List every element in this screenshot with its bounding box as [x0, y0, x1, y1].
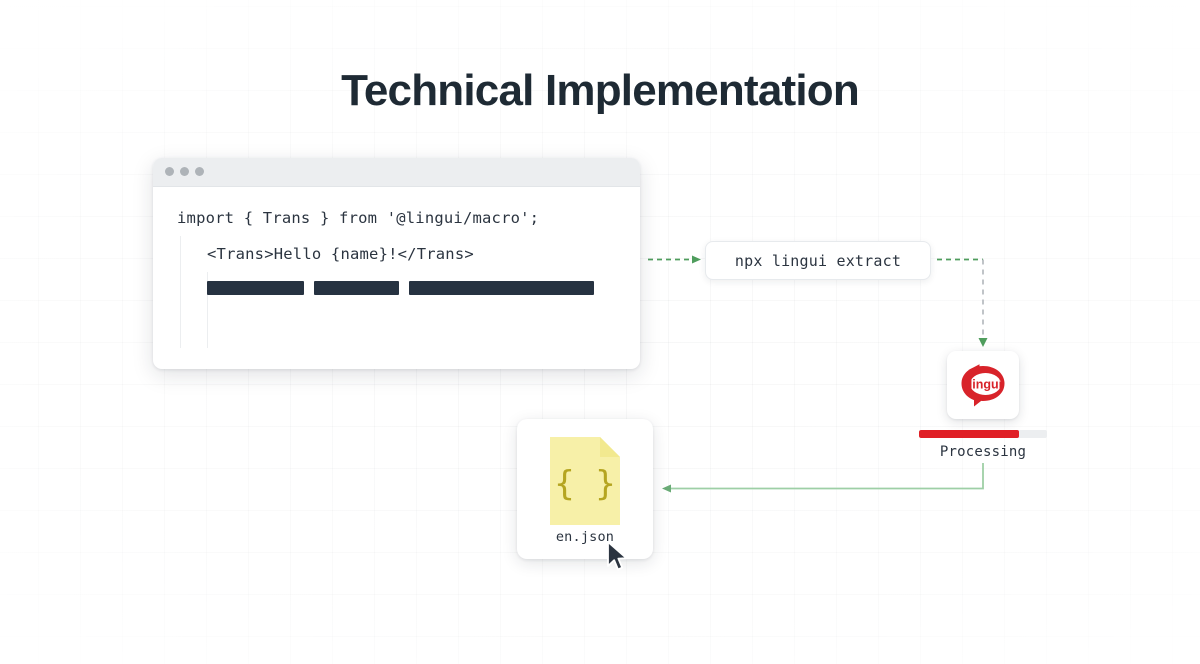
processing-progress-track [919, 430, 1047, 438]
lingui-logo-card[interactable]: lingui [947, 351, 1019, 419]
code-to-command-arrow [648, 256, 701, 264]
cli-command-text: npx lingui extract [735, 252, 901, 270]
lingui-logo-icon: lingui [957, 361, 1009, 409]
code-window[interactable]: import { Trans } from '@lingui/macro'; <… [153, 158, 640, 369]
window-close-dot-icon[interactable] [165, 167, 174, 176]
mouse-pointer-icon [606, 541, 630, 573]
page-title: Technical Implementation [0, 66, 1200, 116]
json-file-icon: { } [550, 437, 620, 525]
code-editor-body[interactable]: import { Trans } from '@lingui/macro'; <… [153, 186, 640, 369]
processing-status-label: Processing [893, 444, 1073, 460]
output-file-name: en.json [517, 529, 653, 545]
window-maximize-dot-icon[interactable] [195, 167, 204, 176]
slide-canvas: Technical Implementation import [0, 0, 1200, 664]
code-window-titlebar [153, 158, 640, 187]
json-braces-glyph: { } [554, 464, 615, 504]
window-minimize-dot-icon[interactable] [180, 167, 189, 176]
output-file-card[interactable]: { } en.json [517, 419, 653, 559]
lingui-wordmark: lingui [969, 378, 1002, 392]
redacted-bar-2 [314, 281, 399, 295]
cli-command-box[interactable]: npx lingui extract [705, 241, 931, 280]
processing-progress-fill [919, 430, 1019, 438]
code-line-import: import { Trans } from '@lingui/macro'; [177, 209, 539, 227]
command-to-lingui-arrow [937, 260, 988, 348]
lingui-to-json-arrow [662, 463, 983, 493]
code-line-trans: <Trans>Hello {name}!</Trans> [207, 245, 474, 263]
redacted-bar-1 [207, 281, 304, 295]
redacted-bar-3 [409, 281, 594, 295]
indent-guide [180, 236, 181, 348]
